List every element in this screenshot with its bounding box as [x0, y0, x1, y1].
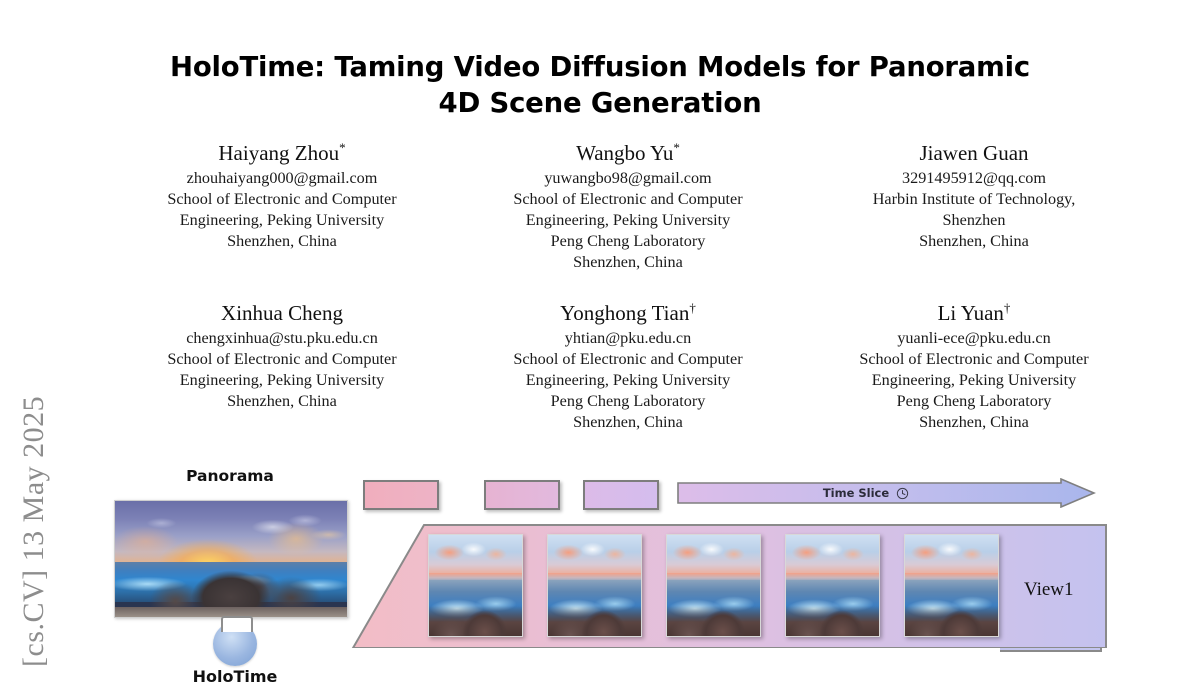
author-email: zhouhaiyang000@gmail.com [116, 168, 448, 189]
holotime-mark-icon [213, 622, 257, 666]
author-affiliation-line: Shenzhen, China [116, 391, 448, 412]
author-affiliation-line: School of Electronic and Computer [116, 189, 448, 210]
author-affiliation-line: Shenzhen, China [116, 231, 448, 252]
author-block-4: Xinhua Cheng chengxinhua@stu.pku.edu.cn … [112, 300, 452, 433]
frame-rock [786, 606, 879, 636]
author-block-3: Jiawen Guan 3291495912@qq.com Harbin Ins… [804, 140, 1144, 273]
panorama-clouds [115, 501, 347, 566]
frame-rock [429, 606, 522, 636]
video-frame [666, 534, 761, 637]
author-mark: * [673, 140, 680, 155]
author-block-2: Wangbo Yu* yuwangbo98@gmail.com School o… [458, 140, 798, 273]
author-name: Li Yuan† [808, 300, 1140, 328]
author-name-text: Yonghong Tian [560, 301, 689, 325]
author-name: Wangbo Yu* [462, 140, 794, 168]
swatch-purple [583, 480, 659, 510]
author-affiliation-line: School of Electronic and Computer [116, 349, 448, 370]
author-email: chengxinhua@stu.pku.edu.cn [116, 328, 448, 349]
video-frame [547, 534, 642, 637]
holotime-logo: HoloTime [175, 622, 295, 686]
author-mark: * [339, 140, 346, 155]
author-affiliation-line: Engineering, Peking University [462, 370, 794, 391]
author-affiliation-line: Engineering, Peking University [116, 370, 448, 391]
video-frame [904, 534, 999, 637]
author-name: Xinhua Cheng [116, 300, 448, 328]
author-affiliation-line: Engineering, Peking University [808, 370, 1140, 391]
frame-clouds [548, 539, 641, 565]
author-name: Yonghong Tian† [462, 300, 794, 328]
author-affiliation-line: Engineering, Peking University [462, 210, 794, 231]
author-affiliation-line: Peng Cheng Laboratory [462, 231, 794, 252]
author-affiliation-line: Shenzhen [808, 210, 1140, 231]
author-affiliation-line: School of Electronic and Computer [462, 189, 794, 210]
author-email: yuanli-ece@pku.edu.cn [808, 328, 1140, 349]
panorama-image [114, 500, 348, 618]
author-affiliation-line: Shenzhen, China [462, 412, 794, 433]
frame-rock [905, 606, 998, 636]
author-affiliation-line: School of Electronic and Computer [808, 349, 1140, 370]
author-mark: † [689, 300, 696, 315]
frame-rock [667, 606, 760, 636]
author-name-text: Xinhua Cheng [221, 301, 343, 325]
author-affiliation-line: Shenzhen, China [462, 252, 794, 273]
teaser-figure: Panorama HoloTime [0, 455, 1200, 648]
author-affiliation-line: School of Electronic and Computer [462, 349, 794, 370]
video-frame [785, 534, 880, 637]
view-panel-label: View1 [1024, 579, 1074, 601]
author-block-5: Yonghong Tian† yhtian@pku.edu.cn School … [458, 300, 798, 433]
author-email: 3291495912@qq.com [808, 168, 1140, 189]
frame-clouds [786, 539, 879, 565]
author-block-6: Li Yuan† yuanli-ece@pku.edu.cn School of… [804, 300, 1144, 433]
author-affiliation-line: Peng Cheng Laboratory [808, 391, 1140, 412]
authors-row-2: Xinhua Cheng chengxinhua@stu.pku.edu.cn … [112, 300, 1144, 433]
video-frame [428, 534, 523, 637]
author-email: yhtian@pku.edu.cn [462, 328, 794, 349]
author-affiliation-line: Shenzhen, China [808, 412, 1140, 433]
time-slice-arrow [676, 478, 1096, 508]
frame-clouds [905, 539, 998, 565]
frame-clouds [429, 539, 522, 565]
author-email: yuwangbo98@gmail.com [462, 168, 794, 189]
author-name-text: Haiyang Zhou [218, 141, 339, 165]
authors-row-1: Haiyang Zhou* zhouhaiyang000@gmail.com S… [112, 140, 1144, 273]
author-name: Haiyang Zhou* [116, 140, 448, 168]
frame-rock [548, 606, 641, 636]
author-name-text: Wangbo Yu [576, 141, 673, 165]
time-arrow-shape [676, 478, 1096, 508]
author-name-text: Jiawen Guan [919, 141, 1028, 165]
swatch-pink-purple [484, 480, 560, 510]
author-affiliation-line: Engineering, Peking University [116, 210, 448, 231]
panorama-label: Panorama [114, 467, 346, 485]
panorama-rocks [115, 559, 347, 608]
page-title: HoloTime: Taming Video Diffusion Models … [150, 50, 1050, 122]
author-affiliation-line: Peng Cheng Laboratory [462, 391, 794, 412]
author-mark: † [1004, 300, 1011, 315]
author-affiliation-line: Shenzhen, China [808, 231, 1140, 252]
frame-clouds [667, 539, 760, 565]
author-affiliation-line: Harbin Institute of Technology, [808, 189, 1140, 210]
author-block-1: Haiyang Zhou* zhouhaiyang000@gmail.com S… [112, 140, 452, 273]
author-name-text: Li Yuan [938, 301, 1004, 325]
swatch-pink [363, 480, 439, 510]
holotime-logo-text: HoloTime [175, 667, 295, 686]
author-name: Jiawen Guan [808, 140, 1140, 168]
